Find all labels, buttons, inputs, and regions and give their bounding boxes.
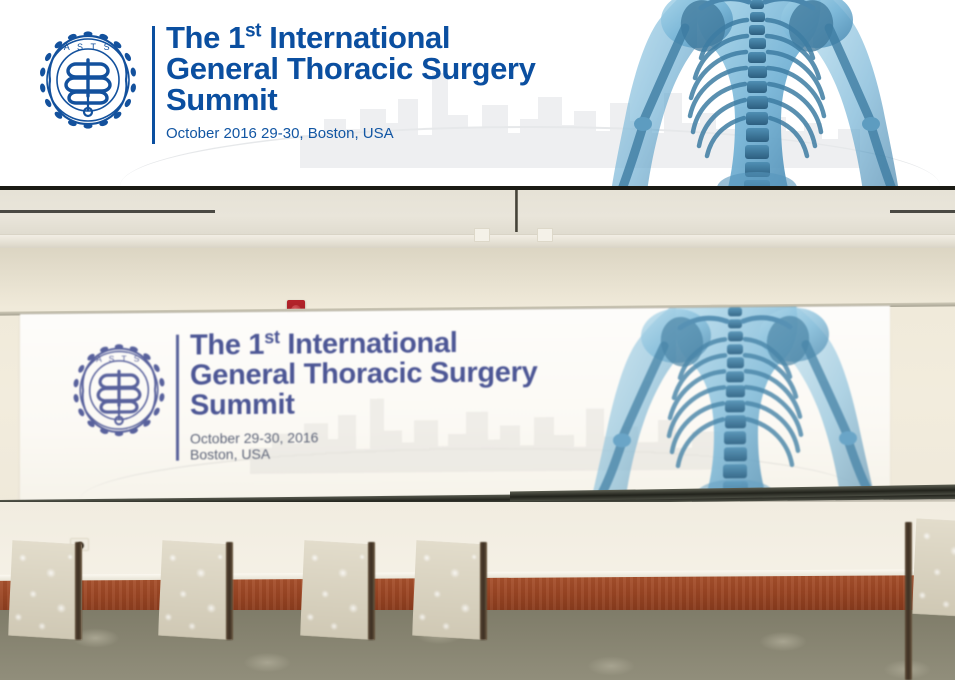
banquet-chair-post-2 <box>226 542 233 640</box>
conference-room-photo: A S T S The 1st International General Th… <box>0 190 955 680</box>
wall-banner-title-line-1: The 1st International <box>190 327 537 360</box>
banner-divider-rule <box>152 26 155 144</box>
asts-logo: A S T S <box>66 337 172 444</box>
ceiling-slot-left <box>0 210 215 213</box>
banner-title-line-1: The 1st International <box>166 22 535 53</box>
banquet-chair-post-5 <box>905 522 912 680</box>
banner-subtitle: October 2016 29-30, Boston, USA <box>166 125 535 142</box>
banquet-chair-5 <box>912 518 955 618</box>
wall-banner-title-line-3: Summit <box>190 387 537 420</box>
track-bracket-right <box>537 228 553 242</box>
printed-wall-banner: A S T S The 1st International General Th… <box>20 306 890 502</box>
svg-text:A S T S: A S T S <box>96 354 142 364</box>
track-bracket-left <box>474 228 490 242</box>
banquet-chair-4 <box>412 540 486 641</box>
asts-logo: A S T S <box>32 24 144 136</box>
wall-banner-location: Boston, USA <box>190 443 537 462</box>
banquet-chair-3 <box>300 540 374 641</box>
air-wall-seam <box>515 190 518 232</box>
banquet-chair-1 <box>8 540 82 641</box>
ceiling-slot-right <box>890 210 955 213</box>
banner-title-line-3: Summit <box>166 84 535 115</box>
wall-banner-text-block: The 1st International General Thoracic S… <box>190 327 537 462</box>
svg-text:A S T S: A S T S <box>64 42 112 52</box>
wall-shadow <box>0 248 955 308</box>
top-digital-banner: A S T S The 1st International General Th… <box>0 0 955 190</box>
banner-text-block: The 1st International General Thoracic S… <box>166 22 535 142</box>
banquet-chair-post-1 <box>75 542 82 640</box>
banner-divider-rule <box>176 335 179 461</box>
banquet-chair-post-3 <box>368 542 375 640</box>
banner-title-line-2: General Thoracic Surgery <box>166 53 535 84</box>
xray-torso-illustration <box>568 306 890 497</box>
banquet-chair-post-4 <box>480 542 487 640</box>
wall-banner-title-line-2: General Thoracic Surgery <box>190 357 537 390</box>
banquet-chair-2 <box>158 540 232 641</box>
xray-torso-illustration <box>585 0 925 190</box>
